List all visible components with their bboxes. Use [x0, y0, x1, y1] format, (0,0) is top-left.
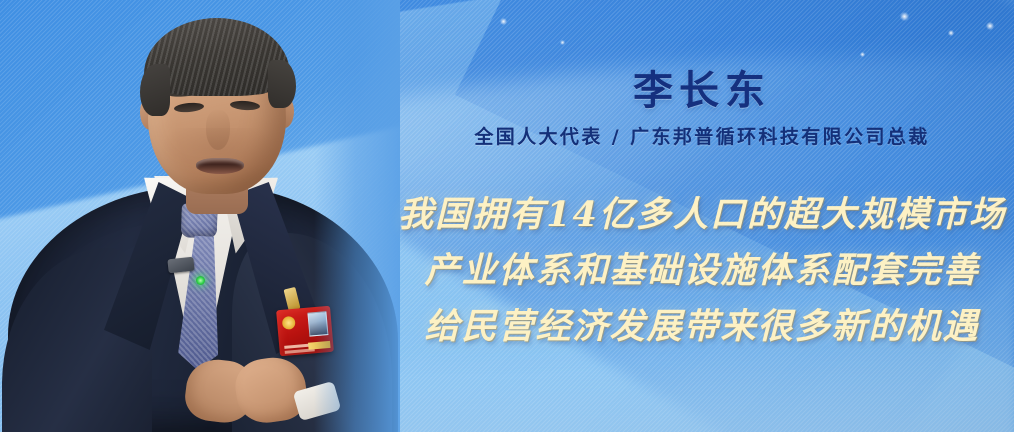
badge-gold-strip: [308, 341, 331, 350]
speaker-photo: [0, 0, 400, 432]
hair-side-right: [268, 60, 296, 108]
delegate-badge: [276, 306, 334, 357]
mouth: [196, 158, 244, 174]
quote-line-3: 给民营经济发展带来很多新的机遇: [390, 298, 1014, 349]
nose: [206, 110, 230, 150]
speaker-title: 全国人大代表 / 广东邦普循环科技有限公司总裁: [390, 122, 1014, 149]
quote-card: 李长东 全国人大代表 / 广东邦普循环科技有限公司总裁 我国拥有14亿多人口的超…: [0, 0, 1014, 432]
national-emblem-icon: [282, 316, 296, 330]
microphone-icon: [167, 257, 194, 274]
text-panel: 李长东 全国人大代表 / 广东邦普循环科技有限公司总裁 我国拥有14亿多人口的超…: [390, 0, 1014, 432]
microphone-led-indicator: [196, 276, 205, 285]
hair-side-left: [140, 64, 170, 116]
quote-line-2: 产业体系和基础设施体系配套完善: [390, 242, 1014, 293]
speaker-name: 李长东: [390, 58, 1014, 116]
quote-line-1: 我国拥有14亿多人口的超大规模市场: [390, 186, 1014, 237]
badge-portrait: [307, 311, 328, 337]
